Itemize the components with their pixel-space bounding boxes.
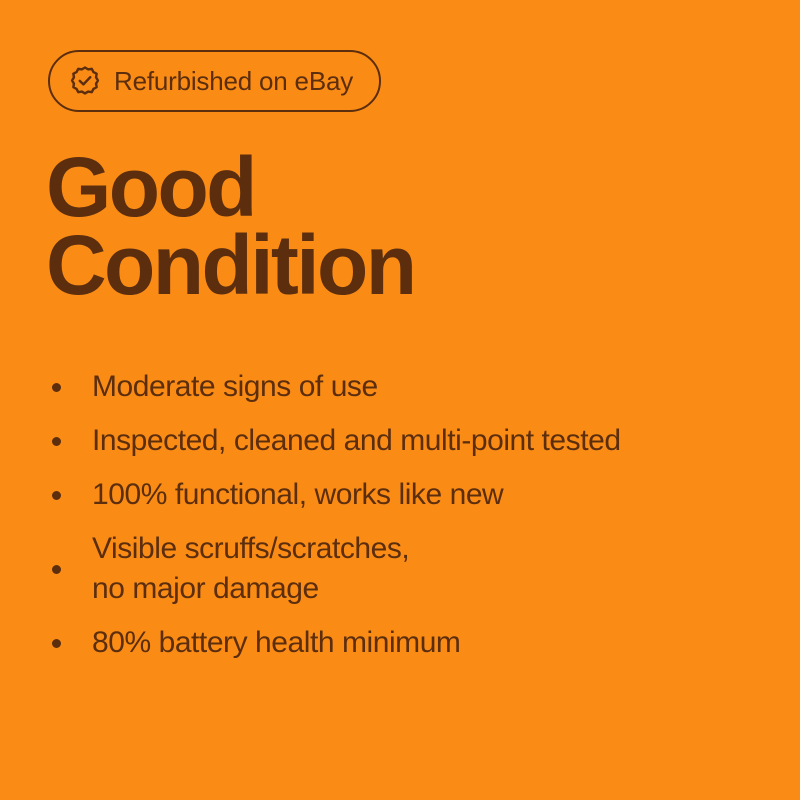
- list-item-label: Moderate signs of use: [92, 367, 378, 407]
- page-title-line-2: Condition: [46, 226, 414, 304]
- refurbished-badge: Refurbished on eBay: [48, 50, 381, 112]
- page-title: Good Condition: [46, 148, 414, 304]
- bullet-dot-icon: [52, 383, 61, 392]
- list-item: Visible scruffs/scratches, no major dama…: [52, 522, 752, 616]
- list-item: 80% battery health minimum: [52, 616, 752, 670]
- refurbished-condition-card: Refurbished on eBay Good Condition Moder…: [0, 0, 800, 800]
- bullet-dot-icon: [52, 437, 61, 446]
- list-item: Inspected, cleaned and multi-point teste…: [52, 414, 752, 468]
- list-item-label: 100% functional, works like new: [92, 475, 503, 515]
- refurbished-badge-label: Refurbished on eBay: [114, 68, 353, 94]
- list-item: Moderate signs of use: [52, 360, 752, 414]
- page-title-line-1: Good: [46, 148, 414, 226]
- verified-seal-check-icon: [70, 66, 100, 96]
- condition-feature-list: Moderate signs of use Inspected, cleaned…: [52, 360, 752, 670]
- list-item-label: Inspected, cleaned and multi-point teste…: [92, 421, 621, 461]
- bullet-dot-icon: [52, 639, 61, 648]
- list-item-label: Visible scruffs/scratches, no major dama…: [92, 529, 409, 609]
- list-item-label: 80% battery health minimum: [92, 623, 460, 663]
- list-item: 100% functional, works like new: [52, 468, 752, 522]
- bullet-dot-icon: [52, 565, 61, 574]
- bullet-dot-icon: [52, 491, 61, 500]
